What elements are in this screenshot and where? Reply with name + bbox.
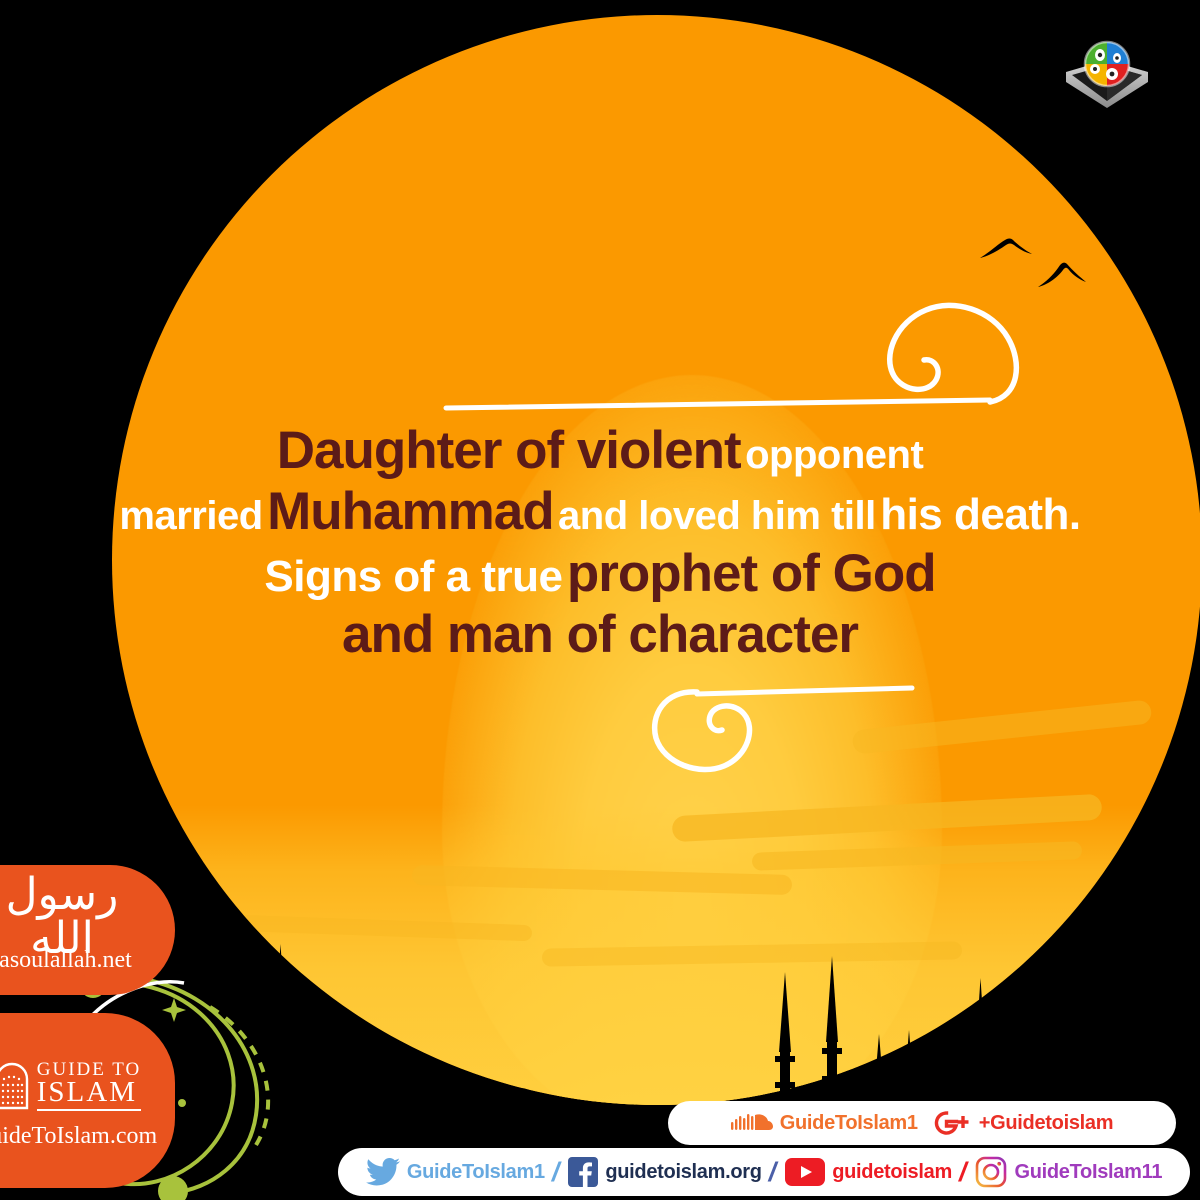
guidetoislam-logo: GUIDE TO ISLAM	[0, 1061, 158, 1111]
twitter-icon	[366, 1158, 400, 1186]
social-link-twitter[interactable]: GuideToIslam1 /	[366, 1157, 560, 1188]
youtube-icon	[785, 1158, 825, 1186]
soundcloud-icon	[731, 1112, 773, 1134]
headline-word: Signs of a true	[264, 552, 562, 601]
social-link-youtube[interactable]: guidetoislam /	[785, 1157, 966, 1188]
ornament-swirl-bottom	[612, 676, 922, 786]
social-link-soundcloud[interactable]: GuideToIslam1	[731, 1112, 918, 1135]
headline-line-3: Signs of a true prophet of God	[0, 543, 1200, 604]
rasoulallah-domain: Rasoulallah.net	[0, 947, 145, 974]
soundcloud-label: GuideToIslam1	[780, 1112, 918, 1135]
headline-word: and loved him till	[558, 494, 876, 538]
headline-word: married	[119, 494, 262, 538]
headline-line-4: and man of character	[0, 604, 1200, 665]
bird-icon	[1036, 256, 1088, 290]
social-bar-top: GuideToIslam1 +Guidetoislam	[668, 1101, 1176, 1145]
headline-word: Daughter of violent	[277, 421, 741, 480]
social-link-instagram[interactable]: GuideToIslam11	[975, 1156, 1162, 1188]
headline-word: prophet of God	[567, 544, 936, 603]
googleplus-icon	[934, 1111, 972, 1135]
headline-line-2: married Muhammad and loved him till his …	[0, 481, 1200, 542]
twitter-label: GuideToIslam1	[407, 1161, 545, 1184]
mihrab-arch-icon	[0, 1062, 29, 1110]
guidetoislam-domain: GuideToIslam.com	[0, 1123, 160, 1150]
headline-word: his death.	[880, 490, 1080, 539]
headline-word: and man of character	[342, 605, 858, 664]
instagram-icon	[975, 1156, 1007, 1188]
headline-word: Muhammad	[267, 482, 553, 541]
poster-canvas: Daughter of violent opponent married Muh…	[0, 0, 1200, 1200]
instagram-label: GuideToIslam11	[1014, 1161, 1162, 1184]
guidetoislam-line2: ISLAM	[37, 1079, 142, 1111]
book-globe-icon[interactable]	[1062, 38, 1152, 110]
headline-block: Daughter of violent opponent married Muh…	[0, 420, 1200, 666]
bird-icon	[978, 236, 1034, 262]
facebook-label: guidetoislam.org	[605, 1161, 761, 1184]
guidetoislam-badge[interactable]: GUIDE TO ISLAM GuideToIslam.com	[0, 1013, 175, 1188]
separator: /	[552, 1157, 560, 1188]
social-bar-bottom: GuideToIslam1 / guidetoislam.org / guide…	[338, 1148, 1190, 1196]
separator: /	[769, 1157, 777, 1188]
headline-word: opponent	[745, 433, 923, 477]
youtube-label: guidetoislam	[832, 1161, 952, 1184]
social-link-facebook[interactable]: guidetoislam.org /	[568, 1157, 776, 1188]
headline-line-1: Daughter of violent opponent	[0, 420, 1200, 481]
separator: /	[959, 1157, 967, 1188]
guidetoislam-wordmark: GUIDE TO ISLAM	[37, 1061, 142, 1111]
googleplus-label: +Guidetoislam	[979, 1112, 1113, 1135]
rasoulallah-badge[interactable]: رسول الله Rasoulallah.net	[0, 865, 175, 995]
social-link-googleplus[interactable]: +Guidetoislam	[934, 1111, 1113, 1135]
facebook-icon	[568, 1157, 598, 1187]
ornament-swirl-top	[430, 292, 1020, 417]
